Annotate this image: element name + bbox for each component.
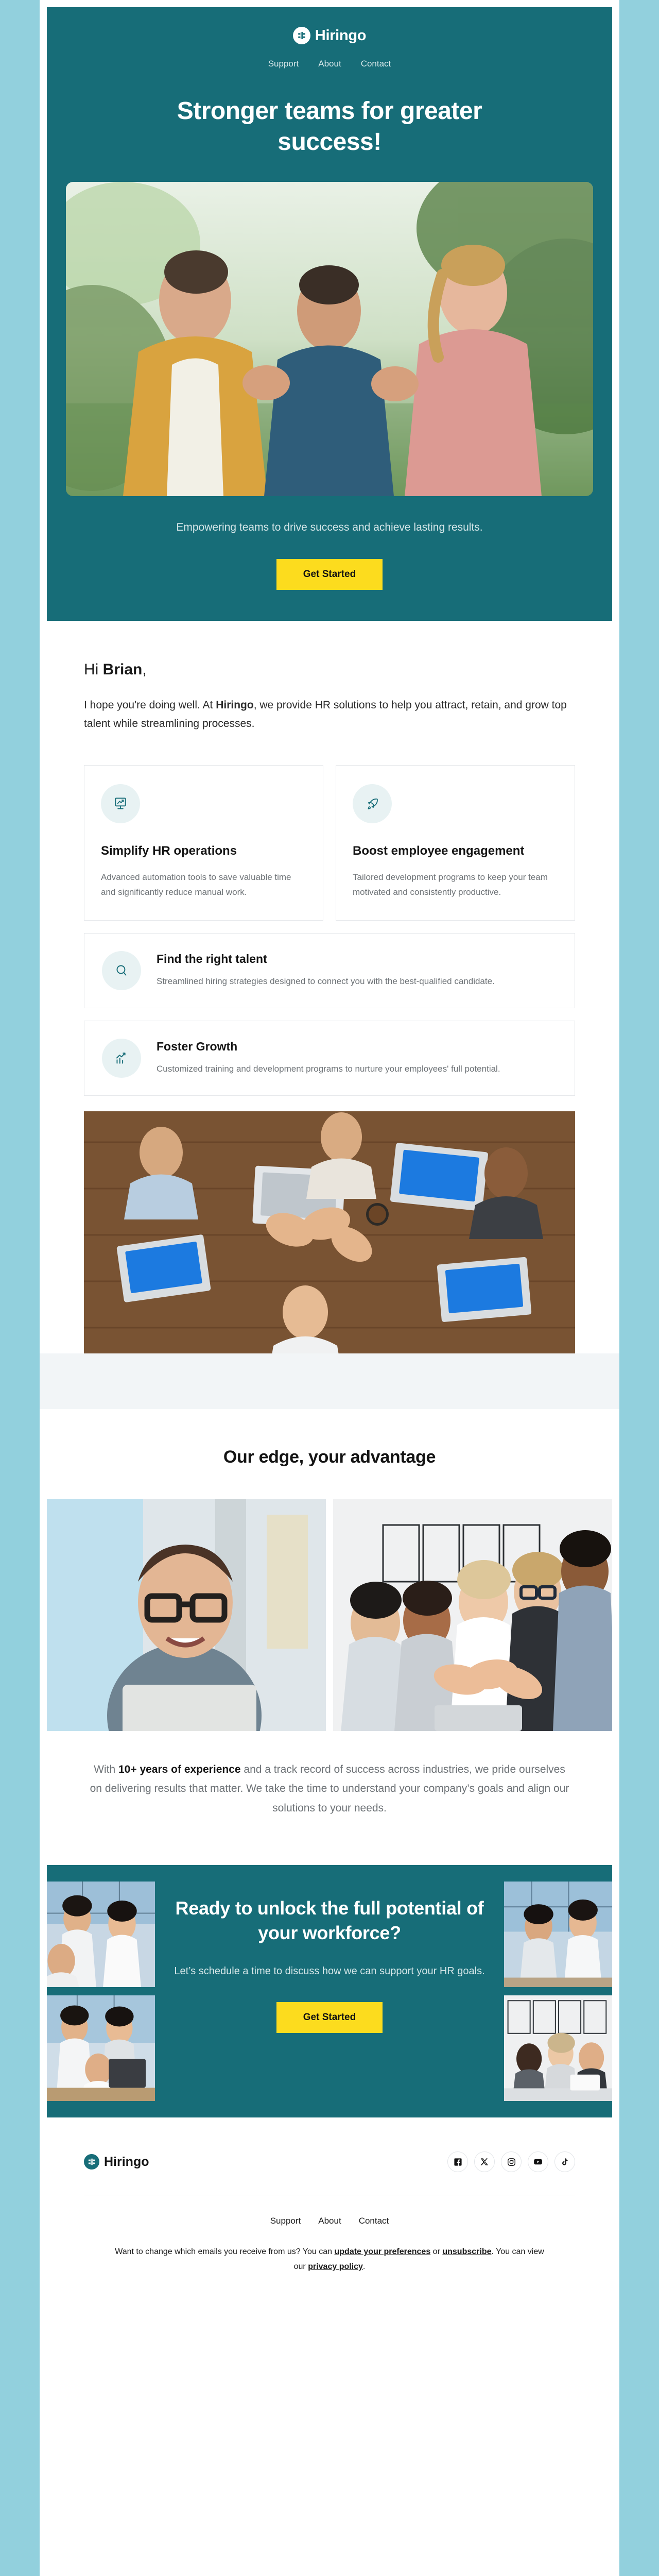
feature-card-text: Find the right talent Streamlined hiring… (157, 952, 495, 989)
edge-section: Our edge, your advantage (40, 1409, 619, 1818)
legal-part-2: or (430, 2247, 442, 2256)
edge-image-right (333, 1499, 612, 1731)
email-page: Hiringo Support About Contact Stronger t… (0, 0, 659, 2576)
hero-nav-contact[interactable]: Contact (361, 59, 391, 69)
hero-nav: Support About Contact (47, 59, 612, 69)
brand-name: Hiringo (315, 28, 366, 43)
cta-photo-colleagues (504, 1882, 612, 1987)
intro-part-1: I hope you're doing well. At (84, 699, 216, 711)
magnifier-icon (102, 951, 141, 990)
hero-subtitle: Empowering teams to drive success and ac… (160, 519, 499, 536)
greeting-prefix: Hi (84, 661, 103, 678)
feature-card-title: Simplify HR operations (101, 843, 306, 859)
edge-images (40, 1499, 619, 1731)
social-links (447, 2151, 575, 2172)
email-container: Hiringo Support About Contact Stronger t… (40, 0, 619, 2576)
x-twitter-icon[interactable] (474, 2151, 495, 2172)
intro-paragraph: I hope you're doing well. At Hiringo, we… (84, 696, 575, 733)
cta-photo-boardroom (504, 1995, 612, 2101)
presentation-chart-icon (101, 784, 140, 823)
instagram-icon[interactable] (501, 2151, 522, 2172)
footer-nav-support[interactable]: Support (270, 2216, 301, 2226)
update-preferences-link[interactable]: update your preferences (335, 2247, 431, 2256)
feature-card-boost-engagement[interactable]: Boost employee engagement Tailored devel… (336, 765, 575, 921)
feature-card-body: Advanced automation tools to save valuab… (101, 870, 306, 900)
team-meeting-image (84, 1111, 575, 1353)
cta-photo-team-desk (47, 1995, 155, 2101)
youtube-icon[interactable] (528, 2151, 548, 2172)
edge-title: Our edge, your advantage (40, 1409, 619, 1467)
hero-nav-about[interactable]: About (318, 59, 341, 69)
hero-get-started-button[interactable]: Get Started (276, 559, 383, 590)
feature-card-title: Boost employee engagement (353, 843, 558, 859)
feature-card-body: Customized training and development prog… (157, 1062, 500, 1077)
greeting: Hi Brian, (84, 661, 575, 679)
feature-card-body: Streamlined hiring strategies designed t… (157, 974, 495, 989)
footer-nav-about[interactable]: About (318, 2216, 341, 2226)
edge-paragraph: With 10+ years of experience and a track… (88, 1760, 571, 1818)
feature-card-title: Find the right talent (157, 952, 495, 966)
cta-collage-left (47, 1865, 155, 2117)
hiringo-logo-icon (84, 2154, 99, 2170)
hiringo-logo-icon (293, 27, 310, 44)
footer-logo[interactable]: Hiringo (84, 2154, 149, 2170)
edge-text-bold: 10+ years of experience (118, 1764, 241, 1775)
feature-card-foster-growth[interactable]: Foster Growth Customized training and de… (84, 1021, 575, 1096)
brand-logo[interactable]: Hiringo (47, 27, 612, 44)
facebook-icon[interactable] (447, 2151, 468, 2172)
footer-section: Hiringo (40, 2117, 619, 2305)
message-section: Hi Brian, I hope you're doing well. At H… (40, 661, 619, 1353)
cta-subtitle: Let’s schedule a time to discuss how we … (169, 1963, 490, 1979)
tiktok-icon[interactable] (554, 2151, 575, 2172)
hero-nav-support[interactable]: Support (268, 59, 299, 69)
footer-nav: Support About Contact (84, 2216, 575, 2226)
intro-brand: Hiringo (216, 699, 254, 711)
cta-content: Ready to unlock the full potential of yo… (155, 1865, 504, 2117)
feature-card-find-talent[interactable]: Find the right talent Streamlined hiring… (84, 933, 575, 1008)
footer-divider (84, 2195, 575, 2195)
greeting-suffix: , (142, 661, 146, 678)
greeting-name: Brian (103, 661, 143, 678)
edge-text-1: With (94, 1764, 118, 1775)
footer-brand-name: Hiringo (104, 2156, 149, 2168)
hero-title: Stronger teams for greater success! (134, 96, 525, 157)
hero-image (66, 182, 593, 496)
cta-section: Ready to unlock the full potential of yo… (47, 1865, 612, 2117)
feature-card-title: Foster Growth (157, 1040, 500, 1054)
feature-card-body: Tailored development programs to keep yo… (353, 870, 558, 900)
edge-image-left (47, 1499, 326, 1731)
feature-cards-row: Simplify HR operations Advanced automati… (84, 765, 575, 921)
legal-part-4: . (363, 2262, 365, 2271)
unsubscribe-link[interactable]: unsubscribe (442, 2247, 491, 2256)
rocket-icon (353, 784, 392, 823)
legal-part-1: Want to change which emails you receive … (115, 2247, 334, 2256)
feature-card-text: Foster Growth Customized training and de… (157, 1040, 500, 1077)
cta-get-started-button[interactable]: Get Started (276, 2002, 383, 2033)
privacy-policy-link[interactable]: privacy policy (308, 2262, 363, 2271)
growth-chart-icon (102, 1039, 141, 1078)
legal-text: Want to change which emails you receive … (113, 2245, 546, 2274)
feature-card-simplify-hr[interactable]: Simplify HR operations Advanced automati… (84, 765, 323, 921)
cta-title: Ready to unlock the full potential of yo… (169, 1896, 490, 1945)
section-divider-band (40, 1353, 619, 1409)
cta-collage-right (504, 1865, 612, 2117)
footer-nav-contact[interactable]: Contact (359, 2216, 389, 2226)
cta-photo-celebration (47, 1882, 155, 1987)
footer-top: Hiringo (84, 2117, 575, 2172)
hero-section: Hiringo Support About Contact Stronger t… (47, 7, 612, 621)
